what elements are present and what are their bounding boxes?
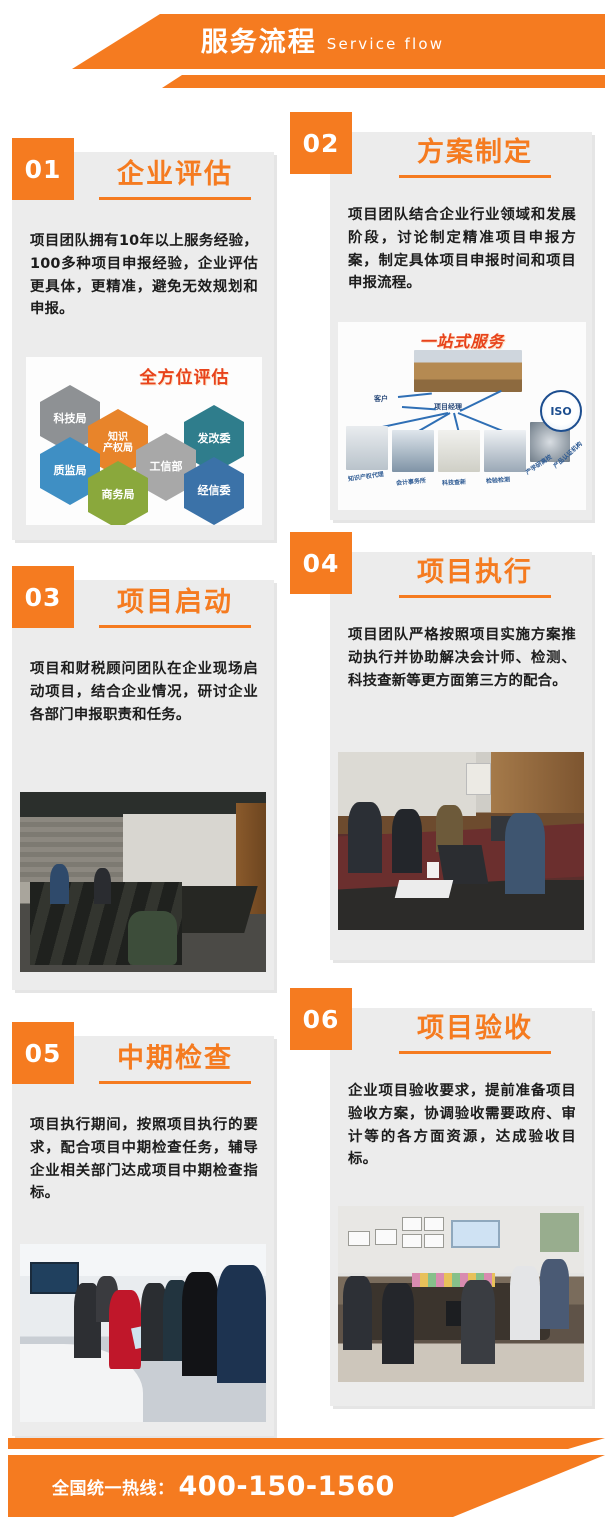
- certification-seal-icon: ISO: [540, 390, 582, 432]
- step-number-badge: 04: [290, 532, 352, 594]
- service-thumb-novelty: [438, 430, 480, 472]
- midterm-inspection-photo: [20, 1244, 266, 1422]
- one-stop-service-figure: 一站式服务 客户 项目经理 ISO 知识产权代理 会计事务所 科技查新 检验检: [338, 322, 586, 510]
- step-title: 方案制定: [370, 138, 580, 168]
- project-acceptance-photo: [338, 1206, 584, 1382]
- assessment-hexagon-figure: 全方位评估 科技局 知识 产权局 发改委 质监局 工信部 商务局 经信委: [26, 357, 262, 525]
- service-thumb-testing: [484, 430, 526, 472]
- service-center-photo: [414, 350, 522, 392]
- title-underline: [99, 1081, 251, 1084]
- project-execution-photo: [338, 752, 584, 930]
- hexagon-label: 商务局: [102, 489, 135, 502]
- step-card-04: 04 项目执行 项目团队严格按照项目实施方案推动执行并协助解决会计师、检测、科技…: [330, 552, 592, 960]
- service-figure-title: 一站式服务: [338, 328, 586, 352]
- header-title-group: 服务流程 Service flow: [0, 16, 605, 68]
- step-card-01: 01 企业评估 项目团队拥有10年以上服务经验，100多种项目申报经验，企业评估…: [12, 152, 274, 540]
- step-title-group: 方案制定: [370, 138, 580, 178]
- service-caption-testing: 检验检测: [486, 474, 511, 485]
- page-subtitle: Service flow: [327, 33, 445, 52]
- page-title: 服务流程: [201, 29, 317, 56]
- service-caption-accounting: 会计事务所: [396, 475, 427, 487]
- step-card-02: 02 方案制定 项目团队结合企业行业领域和发展阶段，讨论制定精准项目申报方案，制…: [330, 132, 592, 520]
- step-title: 企业评估: [82, 160, 268, 190]
- step-description: 项目执行期间，按照项目执行的要求，配合项目中期检查任务，辅导企业相关部门达成项目…: [30, 1114, 258, 1205]
- step-number-badge: 02: [290, 112, 352, 174]
- service-arrow: [458, 412, 503, 432]
- title-underline: [399, 1051, 551, 1054]
- step-description: 项目团队结合企业行业领域和发展阶段，讨论制定精准项目申报方案，制定具体项目申报时…: [348, 204, 576, 295]
- step-number-badge: 03: [12, 566, 74, 628]
- step-description: 项目团队严格按照项目实施方案推动执行并协助解决会计师、检测、科技查新等更方面第三…: [348, 624, 576, 692]
- hexagon-label: 质监局: [54, 465, 87, 478]
- step-title-group: 项目启动: [82, 588, 268, 628]
- service-thumb-ip: [346, 426, 388, 470]
- page-footer: 全国统一热线： 400-150-1560: [0, 1432, 605, 1538]
- header-orange-stripe: [0, 75, 605, 88]
- step-title-group: 企业评估: [82, 160, 268, 200]
- step-number-badge: 01: [12, 138, 74, 200]
- title-underline: [399, 595, 551, 598]
- hotline-label: 全国统一热线：: [52, 1474, 175, 1499]
- hexagon-label: 科技局: [54, 413, 87, 426]
- hexagon-figure-title: 全方位评估: [112, 363, 257, 388]
- step-title-group: 项目验收: [370, 1014, 580, 1054]
- step-description: 项目和财税顾问团队在企业现场启动项目，结合企业情况，研讨企业各部门申报职责和任务…: [30, 658, 258, 726]
- title-underline: [99, 625, 251, 628]
- hotline-number[interactable]: 400-150-1560: [179, 1471, 395, 1502]
- service-node-manager: 项目经理: [434, 402, 462, 412]
- hotline-group: 全国统一热线： 400-150-1560: [0, 1455, 560, 1517]
- service-thumb-accounting: [392, 430, 434, 472]
- service-arrow: [398, 392, 432, 398]
- hexagon-label: 工信部: [150, 461, 183, 474]
- title-underline: [399, 175, 551, 178]
- hexagon-label: 发改委: [198, 433, 231, 446]
- hexagon-label: 经信委: [198, 485, 231, 498]
- service-caption-ip: 知识产权代理: [347, 469, 384, 483]
- step-title-group: 项目执行: [370, 558, 580, 598]
- step-title: 项目启动: [82, 588, 268, 618]
- step-description: 企业项目验收要求，提前准备项目验收方案，协调验收需要政府、审计等的各方面资源，达…: [348, 1080, 576, 1171]
- step-card-03: 03 项目启动 项目和财税顾问团队在企业现场启动项目，结合企业情况，研讨企业各部…: [12, 580, 274, 990]
- hexagon-label: 知识 产权局: [103, 432, 133, 455]
- step-card-06: 06 项目验收 企业项目验收要求，提前准备项目验收方案，协调验收需要政府、审计等…: [330, 1008, 592, 1406]
- service-arrow: [402, 406, 436, 410]
- service-node-customer: 客户: [374, 394, 388, 404]
- footer-orange-stripe: [8, 1438, 605, 1449]
- step-card-05: 05 中期检查 项目执行期间，按照项目执行的要求，配合项目中期检查任务，辅导企业…: [12, 1036, 274, 1436]
- service-caption-novelty: 科技查新: [442, 477, 466, 487]
- step-title-group: 中期检查: [82, 1044, 268, 1084]
- step-number-badge: 05: [12, 1022, 74, 1084]
- step-number-badge: 06: [290, 988, 352, 1050]
- step-title: 项目执行: [370, 558, 580, 588]
- step-title: 中期检查: [82, 1044, 268, 1074]
- title-underline: [99, 197, 251, 200]
- page-header: 服务流程 Service flow: [0, 0, 605, 100]
- project-kickoff-photo: [20, 792, 266, 972]
- service-arrow: [460, 390, 502, 412]
- step-title: 项目验收: [370, 1014, 580, 1044]
- step-description: 项目团队拥有10年以上服务经验，100多种项目申报经验，企业评估更具体，更精准，…: [30, 230, 258, 321]
